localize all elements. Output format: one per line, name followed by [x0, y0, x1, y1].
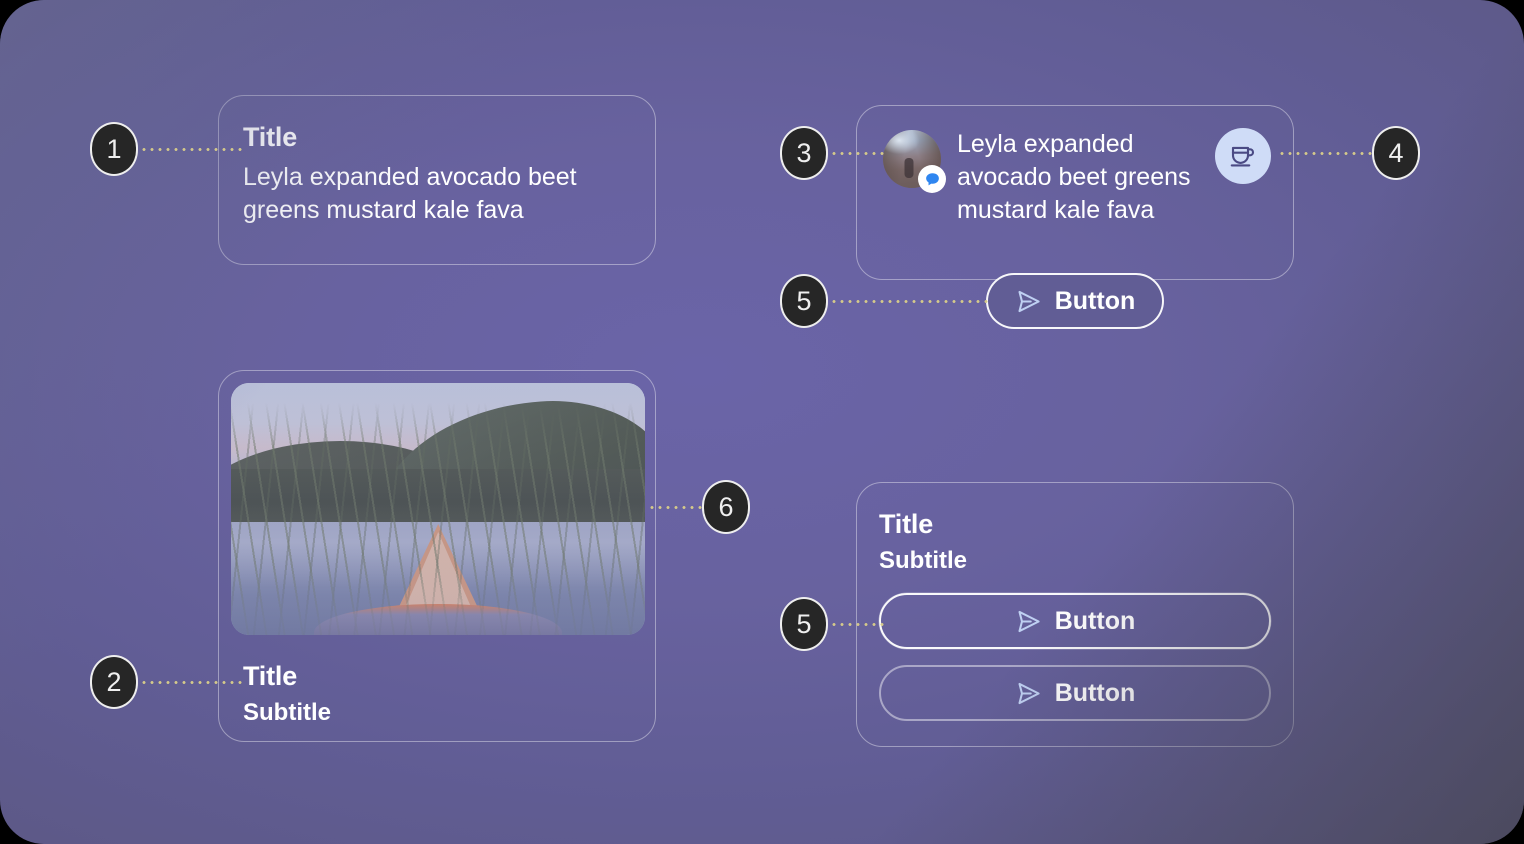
card-basic-title: Title: [243, 122, 631, 152]
card-basic-body: Leyla expanded avocado beet greens musta…: [243, 161, 631, 227]
callout-badge-1[interactable]: 1: [90, 122, 138, 176]
leader-line-1: [140, 148, 246, 151]
card-image-thumbnail: [231, 383, 645, 635]
image-card-subtitle: Subtitle: [243, 699, 631, 727]
thumb-tint: [231, 383, 645, 635]
callout-badge-5-top[interactable]: 5: [780, 274, 828, 328]
callout-badge-3[interactable]: 3: [780, 126, 828, 180]
callout-badge-5-bottom[interactable]: 5: [780, 597, 828, 651]
callout-badge-6[interactable]: 6: [702, 480, 750, 534]
leader-line-3: [830, 152, 888, 155]
send-icon: [1015, 680, 1042, 707]
leader-line-5-bottom: [830, 623, 884, 626]
secondary-button[interactable]: Button: [879, 665, 1271, 721]
card-image[interactable]: Title Subtitle: [218, 370, 656, 742]
coffee-cup-icon[interactable]: [1215, 128, 1271, 184]
leader-line-2: [140, 681, 246, 684]
avatar[interactable]: [883, 130, 941, 188]
actions-card-title: Title: [879, 509, 1271, 539]
floating-button[interactable]: Button: [986, 273, 1164, 329]
image-card-title: Title: [243, 661, 631, 691]
send-icon: [1015, 288, 1042, 315]
focused-button[interactable]: Button: [879, 593, 1271, 649]
send-icon: [1015, 608, 1042, 635]
card-actions[interactable]: Title Subtitle Button Button: [856, 482, 1294, 747]
card-basic[interactable]: Title Leyla expanded avocado beet greens…: [218, 95, 656, 265]
secondary-button-label: Button: [1055, 679, 1136, 708]
focused-button-label: Button: [1055, 607, 1136, 636]
callout-badge-2[interactable]: 2: [90, 655, 138, 709]
leader-line-4: [1278, 152, 1376, 155]
card-avatar-message[interactable]: Leyla expanded avocado beet greens musta…: [856, 105, 1294, 280]
floating-button-label: Button: [1055, 287, 1136, 316]
design-callout-canvas: Title Leyla expanded avocado beet greens…: [0, 0, 1524, 844]
leader-line-6: [648, 506, 708, 509]
callout-badge-4[interactable]: 4: [1372, 126, 1420, 180]
leader-line-5-top: [830, 300, 992, 303]
actions-card-subtitle: Subtitle: [879, 547, 1271, 575]
card-avatar-body: Leyla expanded avocado beet greens musta…: [957, 128, 1219, 227]
chat-bubble-icon: [918, 165, 946, 193]
